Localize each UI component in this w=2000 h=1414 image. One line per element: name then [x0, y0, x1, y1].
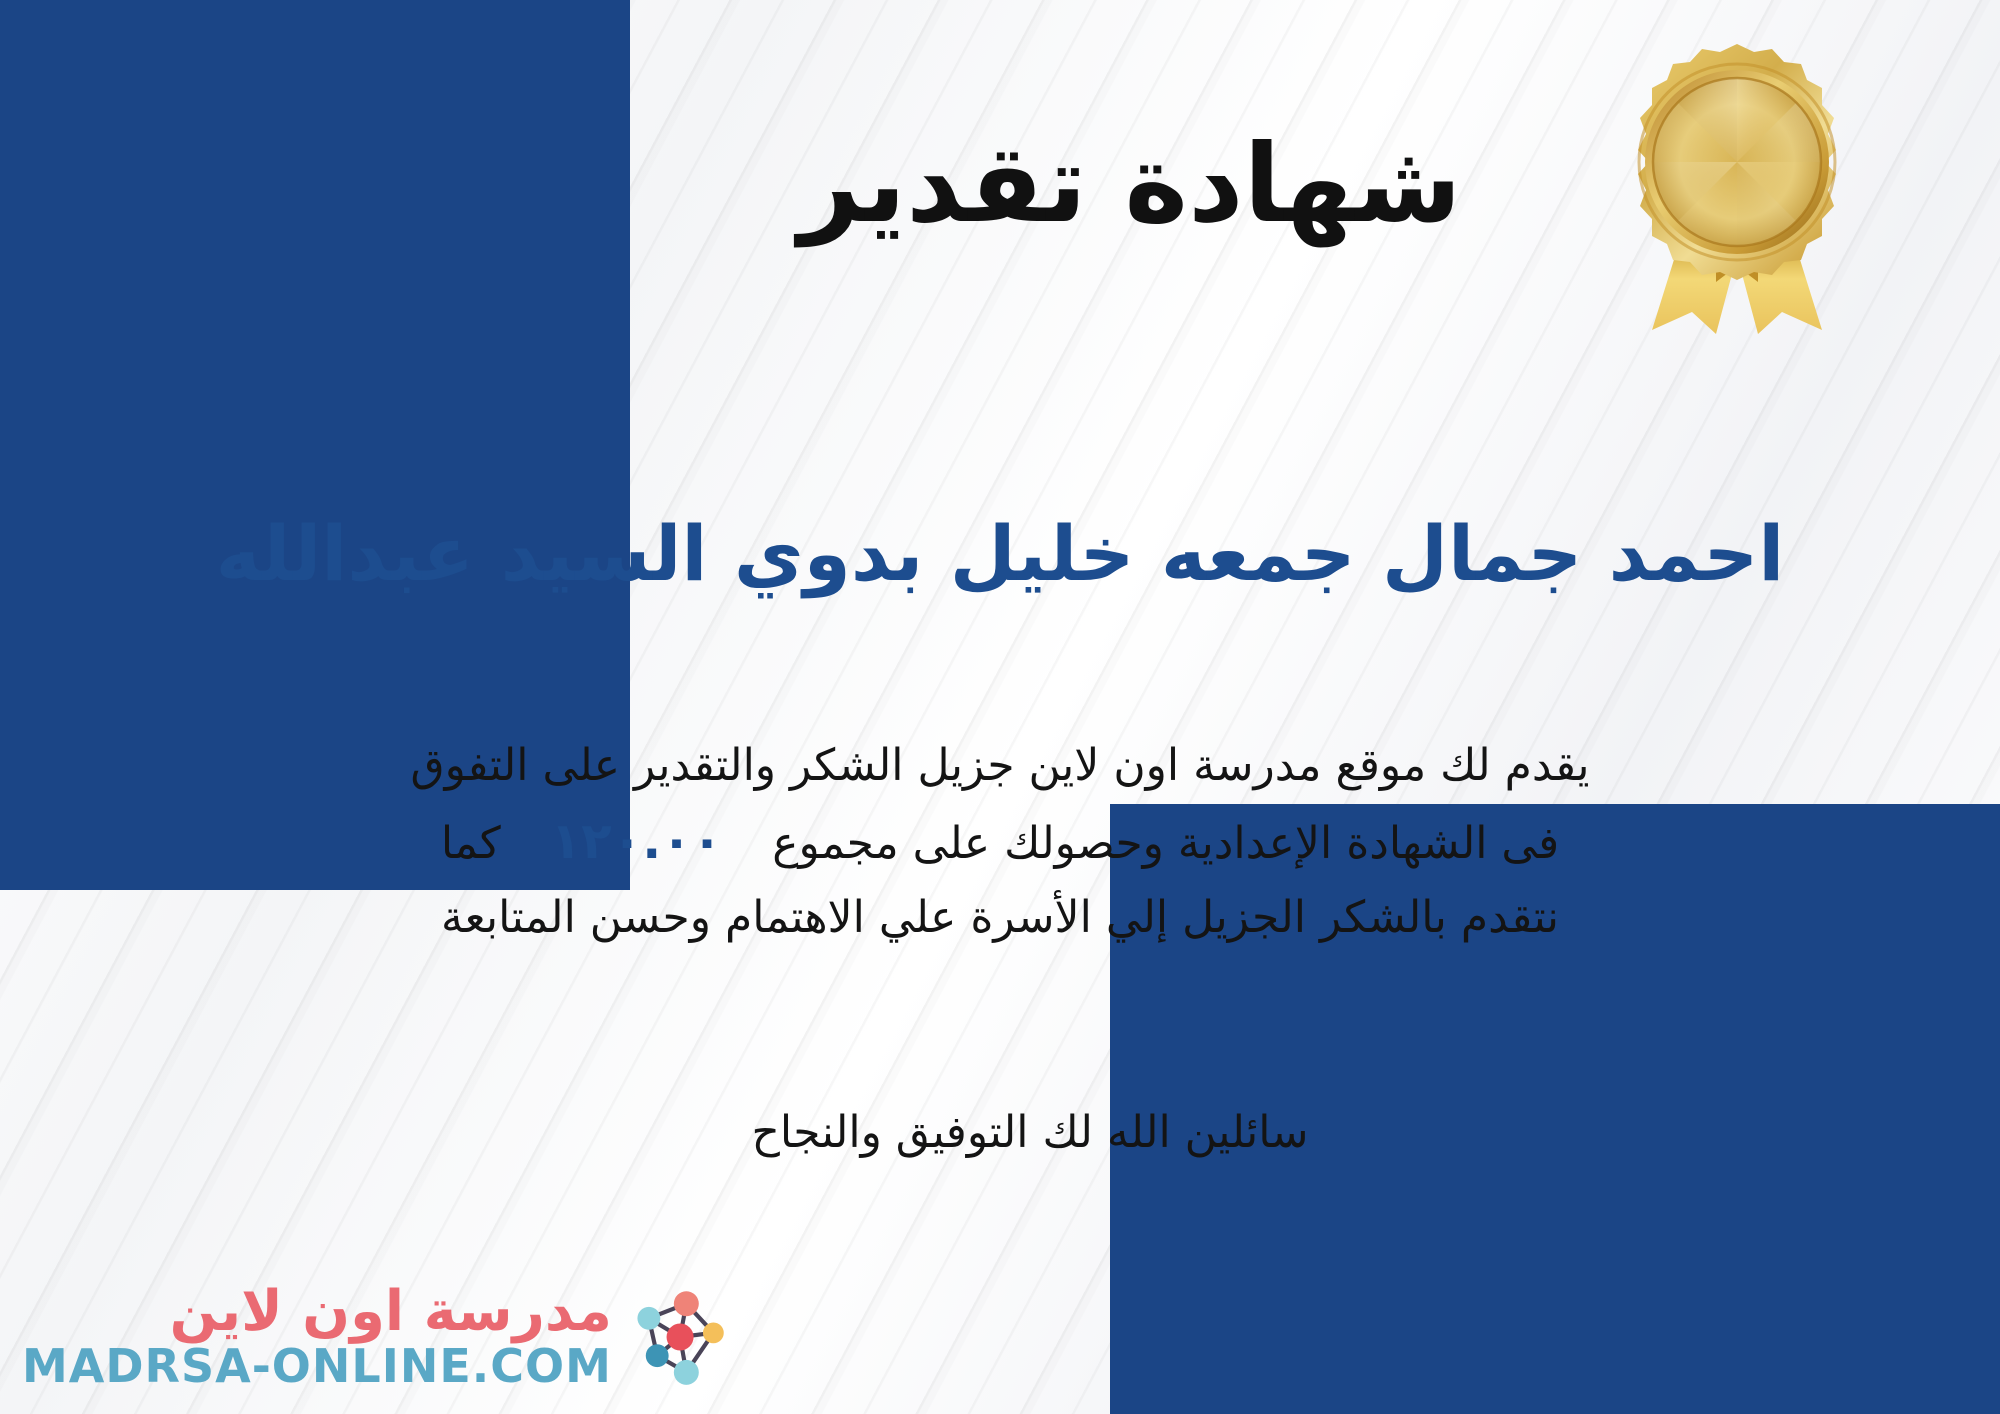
brand-logo-text: مدرسة اون لاين MADRSA-ONLINE.COM: [22, 1283, 612, 1392]
brand-logo[interactable]: مدرسة اون لاين MADRSA-ONLINE.COM: [22, 1283, 730, 1392]
body-line-2-left: كما: [441, 818, 501, 869]
body-line-3: نتقدم بالشكر الجزيل إلي الأسرة علي الاهت…: [120, 882, 1880, 953]
body-line-1: يقدم لك موقع مدرسة اون لاين جزيل الشكر و…: [120, 730, 1880, 801]
brand-name-english: MADRSA-ONLINE.COM: [22, 1341, 612, 1392]
page-title: شهادة تقدير: [0, 128, 2000, 241]
score-value: ١٢٠.٠٠: [515, 812, 759, 870]
body-line-2-right: فى الشهادة الإعدادية وحصولك على مجموع: [772, 818, 1559, 869]
certificate-body: يقدم لك موقع مدرسة اون لاين جزيل الشكر و…: [120, 730, 1880, 954]
brand-name-arabic: مدرسة اون لاين: [170, 1283, 612, 1342]
certificate-content: شهادة تقدير احمد جمال جمعه خليل بدوي الس…: [0, 0, 2000, 1414]
network-nodes-icon: [626, 1285, 730, 1389]
certificate-canvas: شهادة تقدير احمد جمال جمعه خليل بدوي الس…: [0, 0, 2000, 1414]
closing-wish: سائلين الله لك التوفيق والنجاح: [0, 1100, 2000, 1166]
student-name: احمد جمال جمعه خليل بدوي السيد عبدالله: [0, 512, 2000, 596]
body-line-2: فى الشهادة الإعدادية وحصولك على مجموع ١٢…: [120, 801, 1880, 882]
